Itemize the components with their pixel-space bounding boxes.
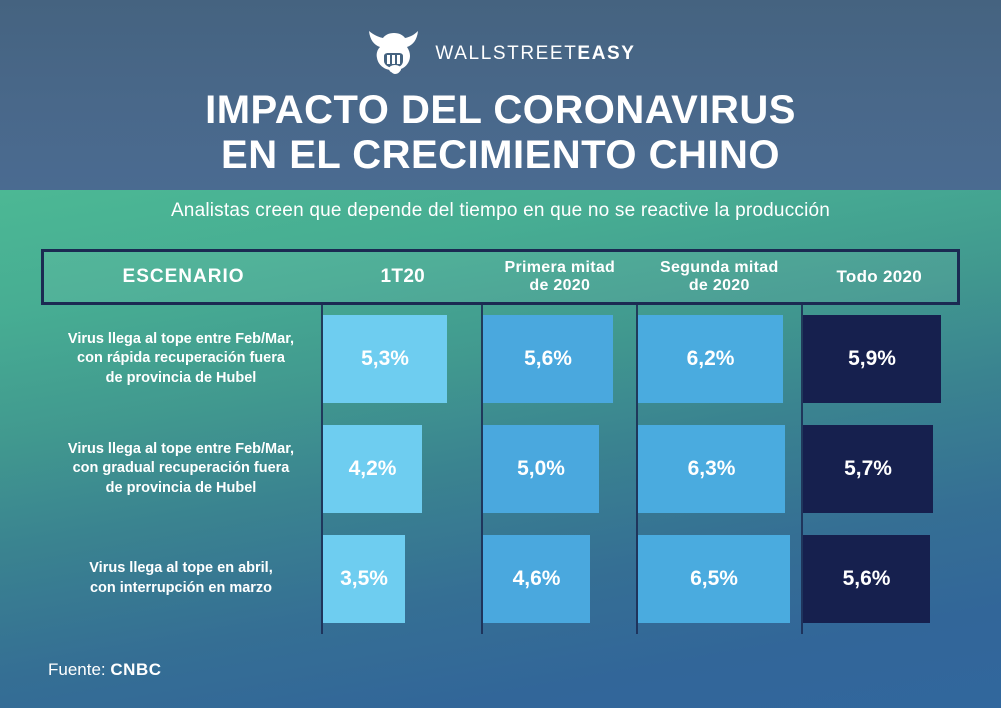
column-header-segunda-mitad-line2: de 2020 <box>637 277 801 295</box>
source-note: Fuente: CNBC <box>48 660 162 680</box>
table-row: Virus llega al tope en abril, con interr… <box>41 529 960 629</box>
cell-1t20: 5,3% <box>321 309 481 409</box>
brand-name-light: WALLSTREET <box>435 43 577 64</box>
bar-value: 5,6% <box>483 315 613 403</box>
bar-value: 3,5% <box>323 535 405 623</box>
page-title: IMPACTO DEL CORONAVIRUS EN EL CRECIMIENT… <box>0 88 1001 178</box>
cell-todo-2020: 5,6% <box>801 529 957 629</box>
scenario-label-line1: Virus llega al tope entre Feb/Mar, <box>68 440 294 460</box>
source-name: CNBC <box>110 660 161 679</box>
bar-value: 4,6% <box>483 535 590 623</box>
bull-head-icon <box>365 28 421 80</box>
cell-segunda-mitad: 6,3% <box>636 419 801 519</box>
bar-value: 6,2% <box>638 315 783 403</box>
table-row: Virus llega al tope entre Feb/Mar, con r… <box>41 309 960 409</box>
bar-value: 5,3% <box>323 315 447 403</box>
scenario-label-line3: de provincia de Hubel <box>68 369 294 389</box>
cell-primera-mitad: 4,6% <box>481 529 636 629</box>
column-header-escenario: ESCENARIO <box>44 266 323 288</box>
bar-value: 5,7% <box>803 425 933 513</box>
column-header-primera-mitad-line1: Primera mitad <box>483 259 638 277</box>
bar-value: 4,2% <box>323 425 422 513</box>
column-header-segunda-mitad: Segunda mitad de 2020 <box>637 259 801 296</box>
cell-segunda-mitad: 6,5% <box>636 529 801 629</box>
brand-name-bold: EASY <box>577 43 635 64</box>
column-header-primera-mitad-line2: de 2020 <box>483 277 638 295</box>
cell-primera-mitad: 5,6% <box>481 309 636 409</box>
scenario-label-line2: con gradual recuperación fuera <box>68 459 294 479</box>
bar-value: 6,5% <box>638 535 790 623</box>
column-header-1t20: 1T20 <box>323 266 482 288</box>
scenario-label-line1: Virus llega al tope en abril, <box>89 559 272 579</box>
source-label: Fuente: <box>48 660 106 679</box>
scenario-label-line2: con rápida recuperación fuera <box>68 349 294 369</box>
brand-logo: WALLSTREETEASY <box>0 28 1001 80</box>
scenario-label-line2: con interrupción en marzo <box>89 579 272 599</box>
cell-1t20: 4,2% <box>321 419 481 519</box>
scenario-label: Virus llega al tope entre Feb/Mar, con r… <box>41 309 321 409</box>
cell-1t20: 3,5% <box>321 529 481 629</box>
table-header-row: ESCENARIO 1T20 Primera mitad de 2020 Seg… <box>41 249 960 305</box>
cell-primera-mitad: 5,0% <box>481 419 636 519</box>
bar-value: 5,9% <box>803 315 941 403</box>
scenarios-table: ESCENARIO 1T20 Primera mitad de 2020 Seg… <box>41 249 960 634</box>
bar-value: 5,6% <box>803 535 930 623</box>
column-header-segunda-mitad-line1: Segunda mitad <box>637 259 801 277</box>
column-header-primera-mitad: Primera mitad de 2020 <box>483 259 638 296</box>
scenario-label: Virus llega al tope entre Feb/Mar, con g… <box>41 419 321 519</box>
bar-value: 6,3% <box>638 425 785 513</box>
scenario-label: Virus llega al tope en abril, con interr… <box>41 529 321 629</box>
page-subtitle: Analistas creen que depende del tiempo e… <box>0 200 1001 222</box>
scenario-label-line1: Virus llega al tope entre Feb/Mar, <box>68 330 294 350</box>
title-line-2: EN EL CRECIMIENTO CHINO <box>0 133 1001 178</box>
scenario-label-line3: de provincia de Hubel <box>68 479 294 499</box>
brand-name: WALLSTREETEASY <box>435 43 635 65</box>
cell-segunda-mitad: 6,2% <box>636 309 801 409</box>
table-row: Virus llega al tope entre Feb/Mar, con g… <box>41 419 960 519</box>
column-header-todo-2020: Todo 2020 <box>802 267 957 287</box>
cell-todo-2020: 5,7% <box>801 419 957 519</box>
cell-todo-2020: 5,9% <box>801 309 957 409</box>
bar-value: 5,0% <box>483 425 599 513</box>
title-line-1: IMPACTO DEL CORONAVIRUS <box>0 88 1001 133</box>
